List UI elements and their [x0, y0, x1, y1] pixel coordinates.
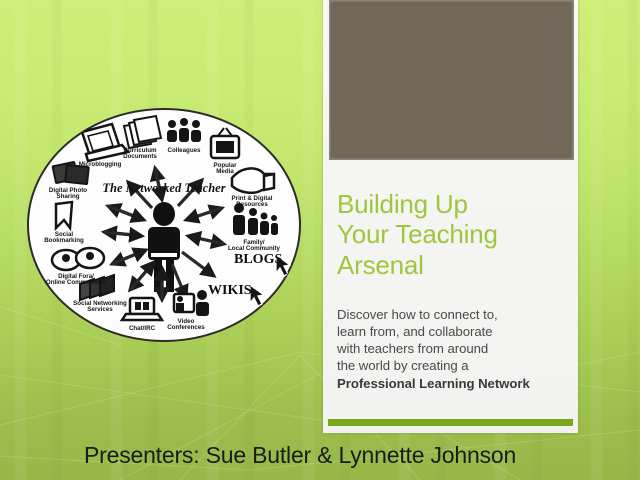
presentation-slide: Curriculum Documents Colleagues Popular …: [0, 0, 640, 480]
svg-text:Bookmarking: Bookmarking: [44, 237, 84, 244]
svg-text:Services: Services: [87, 306, 113, 313]
page-title: Building Up Your Teaching Arsenal: [337, 189, 569, 280]
body-line: the world by creating a: [337, 357, 573, 374]
diagram-title: The Networked Teacher: [102, 181, 225, 195]
wikis-label: WIKIS: [208, 283, 252, 298]
svg-text:Chat/IRC: Chat/IRC: [129, 325, 156, 332]
body-emphasis: Professional Learning Network: [337, 375, 573, 392]
title-block: Building Up Your Teaching Arsenal: [337, 189, 569, 280]
svg-text:Colleagues: Colleagues: [167, 147, 201, 154]
svg-text:Resources: Resources: [236, 201, 268, 208]
svg-text:Conferences: Conferences: [167, 324, 205, 331]
body-line: learn from, and collaborate: [337, 323, 573, 340]
svg-text:Media: Media: [216, 168, 234, 175]
networked-teacher-diagram: Curriculum Documents Colleagues Popular …: [26, 108, 302, 342]
blogs-label: BLOGS: [234, 252, 282, 267]
body-line: Discover how to connect to,: [337, 306, 573, 323]
body-line: with teachers from around: [337, 340, 573, 357]
presenters-line: Presenters: Sue Butler & Lynnette Johnso…: [84, 442, 516, 469]
webcam-people-icon: [174, 290, 209, 316]
svg-text:Sharing: Sharing: [56, 193, 79, 200]
accent-bar: [328, 419, 573, 426]
svg-text:Microblogging: Microblogging: [79, 161, 122, 168]
body-text-block: Discover how to connect to, learn from, …: [337, 306, 573, 392]
forum-icon: [52, 248, 104, 270]
content-panel: Building Up Your Teaching Arsenal Discov…: [323, 0, 578, 433]
people-group-icon: [167, 118, 201, 142]
media-placeholder[interactable]: [329, 0, 574, 160]
svg-text:Local Community: Local Community: [228, 245, 280, 252]
svg-text:Documents: Documents: [123, 153, 157, 160]
svg-text:Online Communities: Online Communities: [46, 279, 107, 286]
